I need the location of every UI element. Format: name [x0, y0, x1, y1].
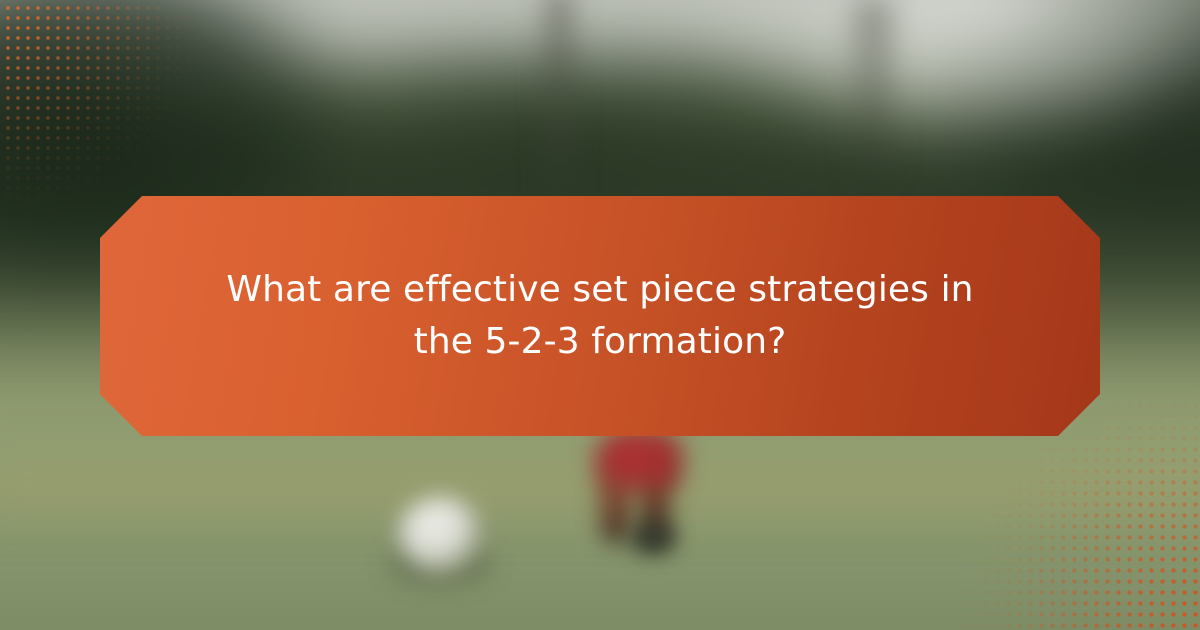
- soccer-ball: [398, 497, 484, 577]
- share-card: What are effective set piece strategies …: [0, 0, 1200, 630]
- player-boot: [630, 524, 676, 554]
- page-title: What are effective set piece strategies …: [200, 264, 1000, 368]
- tree-trunk-blur-right: [856, 0, 890, 180]
- tree-trunk-blur-left: [546, 0, 572, 210]
- player-red-shorts: [596, 428, 682, 490]
- headline-banner: What are effective set piece strategies …: [100, 196, 1100, 436]
